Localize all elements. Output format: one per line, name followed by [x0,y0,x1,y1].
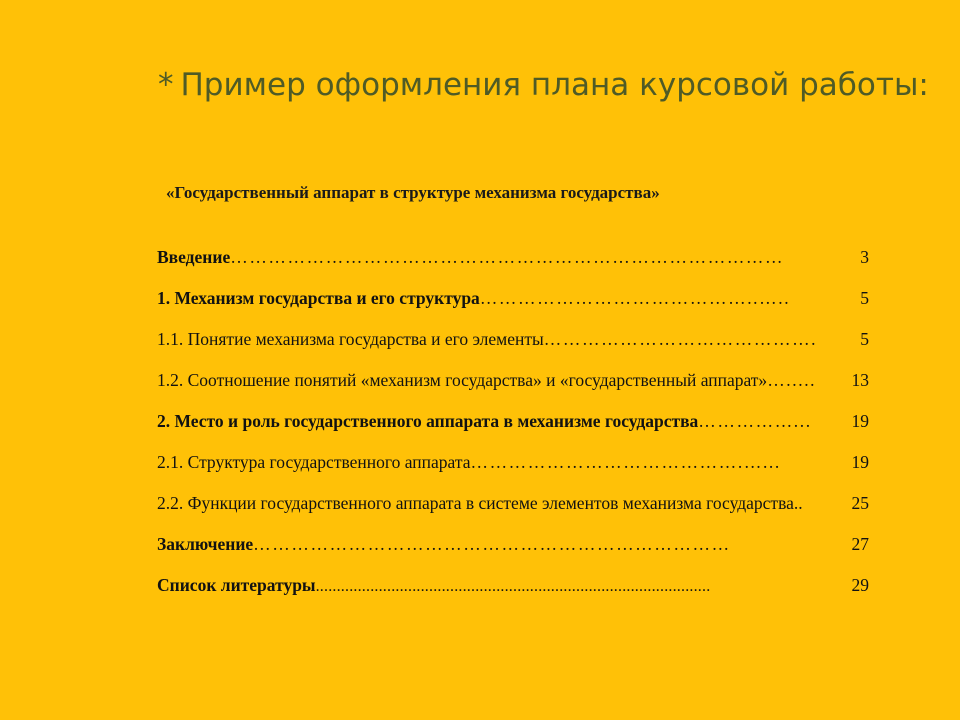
toc-entry-label: 1. Механизм государства и его структура [157,287,480,309]
toc-page-number: 5 [860,287,869,309]
toc-entry: 2. Место и роль государственного аппарат… [152,410,869,432]
toc-entry: 1.1. Понятие механизма государства и его… [152,328,869,350]
toc-dot-leader: ………………………………………………………………… [253,533,851,555]
bullet-star-icon: * [158,67,174,103]
toc-entry-label: Введение [157,246,230,268]
toc-entry-label: 1.2. Соотношение понятий «механизм госуд… [157,369,767,391]
toc-entry-label: 2.2. Функции государственного аппарата в… [157,492,794,514]
toc-dot-leader: …..... [767,369,851,391]
toc-page-number: 13 [852,369,870,391]
toc-dot-leader: ……………………………………..….. [480,287,860,309]
table-of-contents: Введение……………………………………………………………………………31.… [152,246,864,598]
toc-entry-label: Список литературы [157,574,316,596]
toc-entry: 1.2. Соотношение понятий «механизм госуд… [152,369,869,391]
toc-page-number: 19 [852,451,870,473]
toc-entry: 2.2. Функции государственного аппарата в… [152,492,869,514]
toc-entry-label: 2.1. Структура государственного аппарата [157,451,470,473]
presentation-slide: *Пример оформления плана курсовой работы… [0,0,960,720]
toc-dot-leader: ........................................… [316,576,852,598]
toc-page-number: 3 [860,246,869,268]
toc-dot-leader: ……………………………………. [544,328,860,350]
toc-page-number: 25 [852,492,870,514]
coursework-title: «Государственный аппарат в структуре мех… [152,180,864,206]
toc-dot-leader: …………………………………….…... [470,451,851,473]
toc-entry: 2.1. Структура государственного аппарата… [152,451,869,473]
toc-page-number: 27 [852,533,870,555]
toc-entry: Список литературы.......................… [152,574,869,598]
slide-content-body: «Государственный аппарат в структуре мех… [152,180,864,598]
toc-entry: Введение……………………………………………………………………………3 [152,246,869,268]
toc-entry: 1. Механизм государства и его структура…… [152,287,869,309]
toc-entry-label: 1.1. Понятие механизма государства и его… [157,328,544,350]
toc-entry-label: Заключение [157,533,253,555]
toc-page-number: 5 [860,328,869,350]
slide-title: *Пример оформления плана курсовой работы… [158,65,918,105]
toc-entry-label: 2. Место и роль государственного аппарат… [157,410,698,432]
toc-dot-leader: …………………………………………………………………………… [230,246,860,268]
toc-page-number: 19 [852,410,870,432]
slide-title-text: Пример оформления плана курсовой работы: [181,67,929,103]
toc-dot-leader: .. [794,492,852,514]
toc-entry: Заключение…………………………………………………………………27 [152,533,869,555]
toc-dot-leader: ……………... [698,410,851,432]
toc-page-number: 29 [852,574,870,596]
